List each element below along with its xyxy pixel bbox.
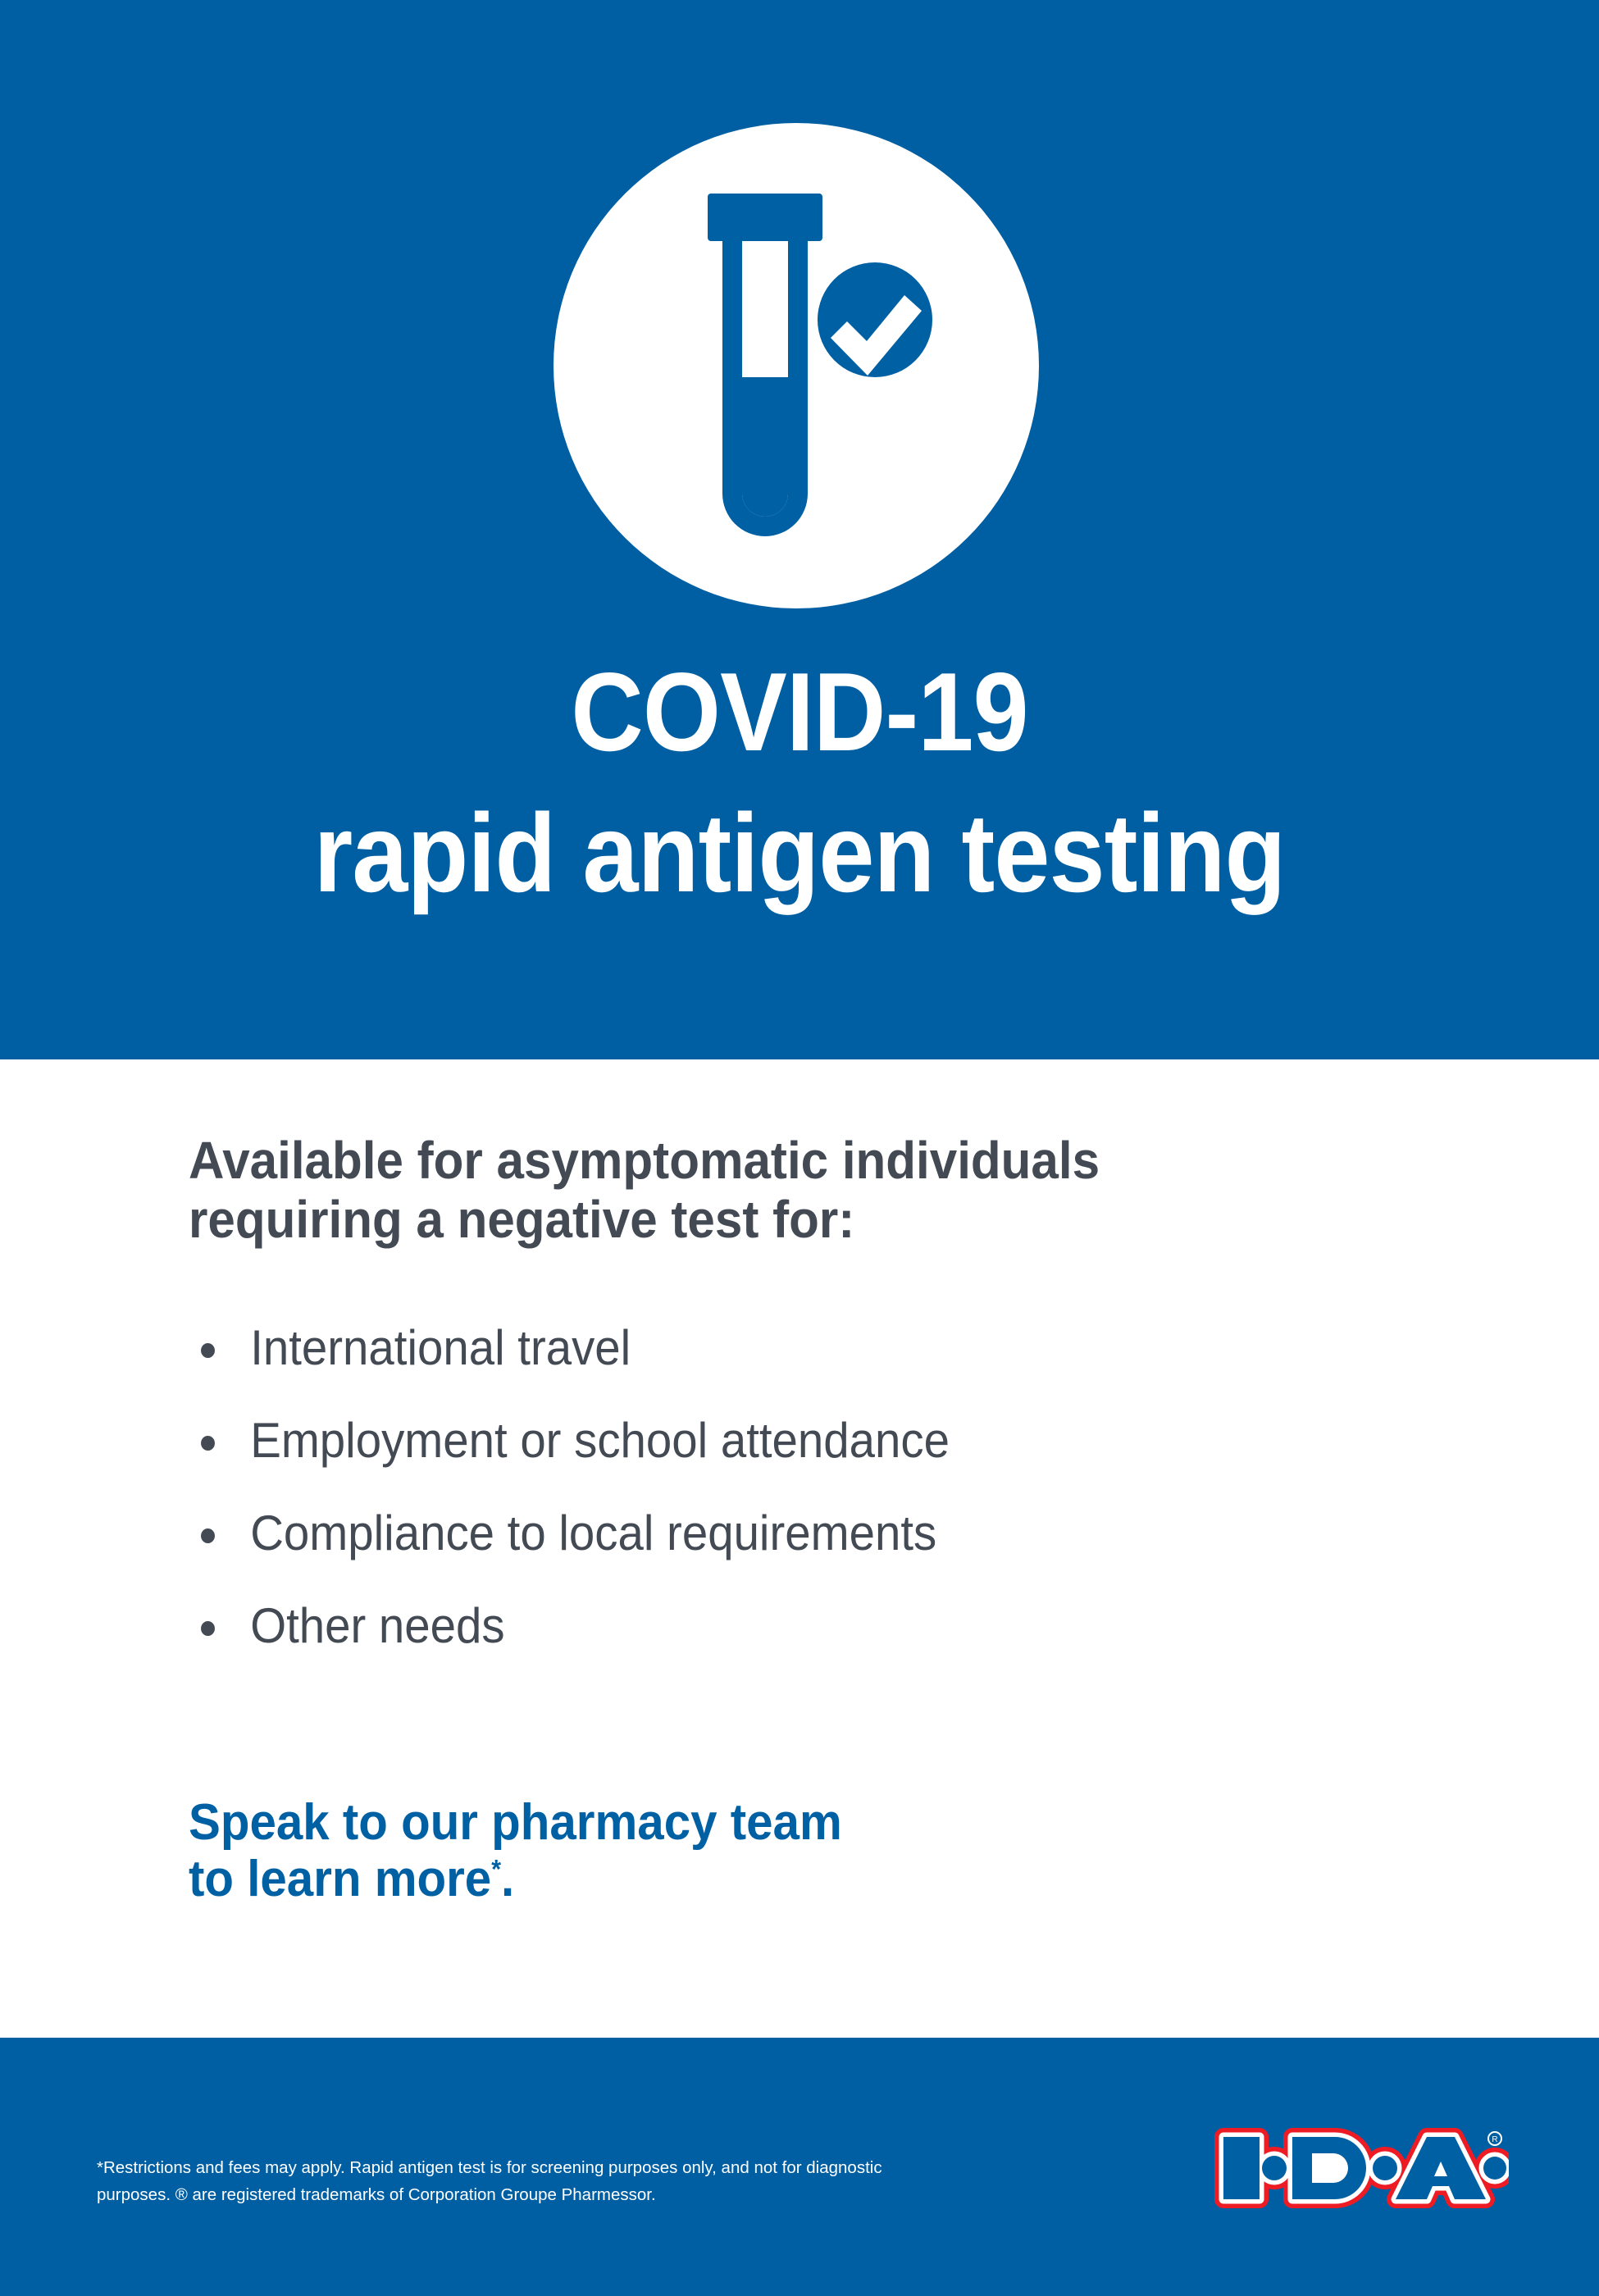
lead-line-2: requiring a negative test for: [189, 1191, 1437, 1250]
list-item-label: International travel [250, 1320, 631, 1375]
lead-paragraph: Available for asymptomatic individuals r… [189, 1132, 1437, 1249]
disclaimer-line-2: purposes. ® are registered trademarks of… [97, 2181, 958, 2208]
page-title: COVID-19 rapid antigen testing [0, 656, 1599, 909]
content-area: Available for asymptomatic individuals r… [0, 1059, 1599, 2038]
cta-asterisk: * [491, 1855, 501, 1884]
title-line-1: COVID-19 [80, 656, 1519, 768]
list-item: Employment or school attendance [189, 1416, 1437, 1465]
cta-line-1: Speak to our pharmacy team [189, 1794, 1345, 1851]
bullet-dot-icon [201, 1621, 215, 1636]
disclaimer-text: *Restrictions and fees may apply. Rapid … [97, 2154, 958, 2208]
bullet-dot-icon [201, 1343, 215, 1358]
disclaimer-line-1: *Restrictions and fees may apply. Rapid … [97, 2154, 958, 2181]
title-line-2: rapid antigen testing [80, 797, 1519, 909]
eligibility-list: International travel Employment or schoo… [189, 1323, 1517, 1694]
list-item: Compliance to local requirements [189, 1509, 1437, 1558]
cta-line-2: to learn more*. [189, 1851, 1345, 1907]
test-tube-check-icon [553, 123, 1039, 608]
cta-period: . [501, 1851, 514, 1907]
lead-line-1: Available for asymptomatic individuals [189, 1132, 1437, 1191]
ida-pharmacy-logo: R [1212, 2125, 1509, 2211]
svg-text:R: R [1492, 2135, 1497, 2144]
bullet-dot-icon [201, 1436, 215, 1451]
list-item-label: Other needs [250, 1598, 504, 1653]
poster-root: COVID-19 rapid antigen testing Available… [0, 0, 1599, 2296]
list-item: International travel [189, 1323, 1437, 1373]
header-banner: COVID-19 rapid antigen testing [0, 0, 1599, 1059]
bullet-dot-icon [201, 1528, 215, 1543]
list-item: Other needs [189, 1601, 1437, 1651]
list-item-label: Compliance to local requirements [250, 1506, 936, 1560]
list-item-label: Employment or school attendance [250, 1413, 950, 1468]
call-to-action: Speak to our pharmacy team to learn more… [189, 1794, 1345, 1908]
cta-line-2-text: to learn more [189, 1851, 491, 1907]
